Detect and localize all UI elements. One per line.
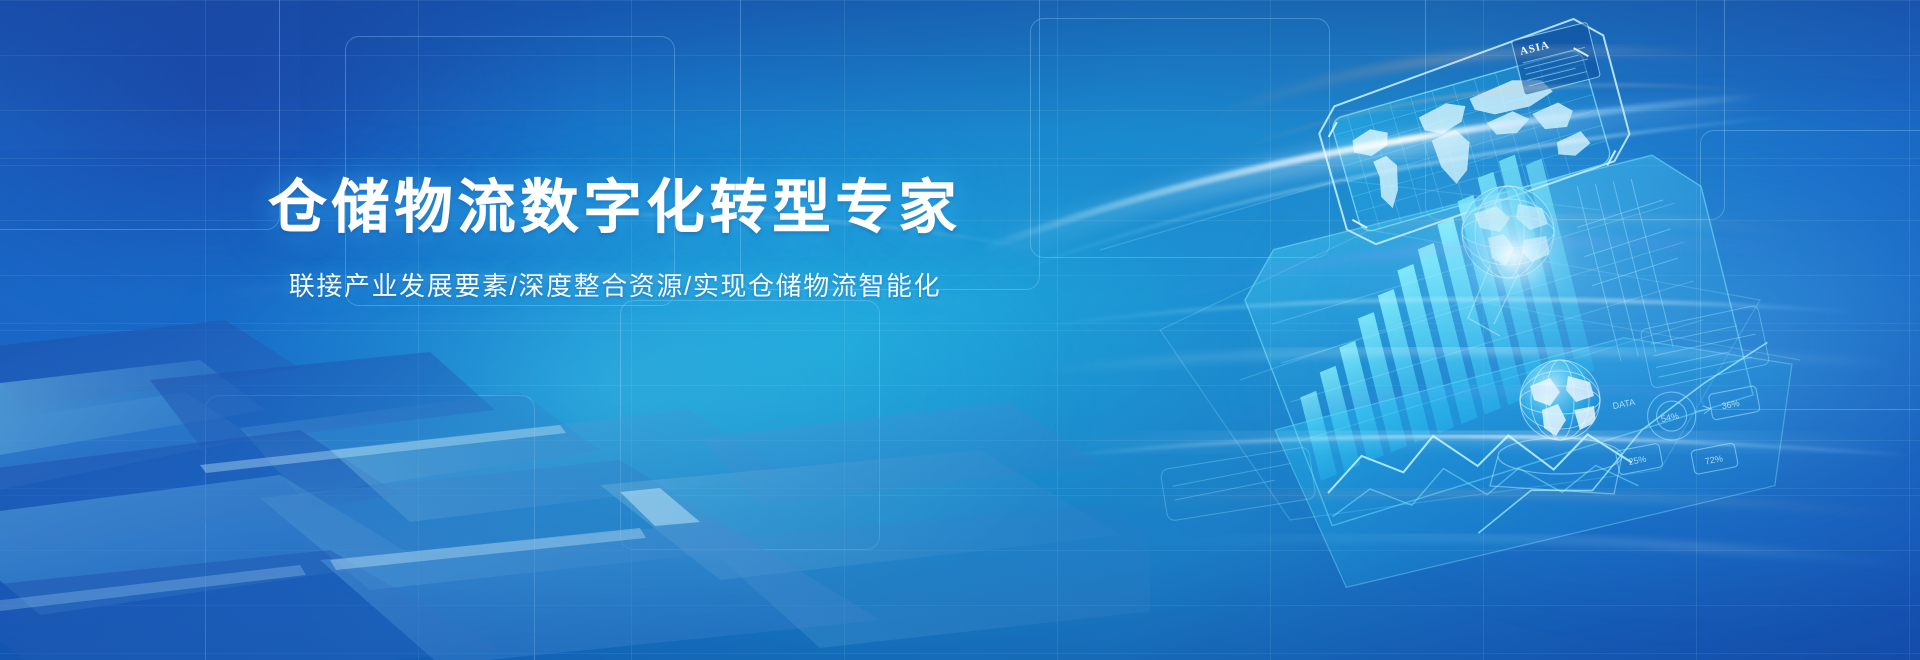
page-title: 仓储物流数字化转型专家 [0,178,1230,238]
page-subtitle: 联接产业发展要素/深度整合资源/实现仓储物流智能化 [0,270,1230,304]
hero-copy: 仓储物流数字化转型专家 联接产业发展要素/深度整合资源/实现仓储物流智能化 [0,178,1230,304]
lens-flare-core [1455,196,1575,316]
isometric-plates [0,260,1150,660]
hero-banner: 54% 36% 25% 72% DATA [0,0,1920,660]
